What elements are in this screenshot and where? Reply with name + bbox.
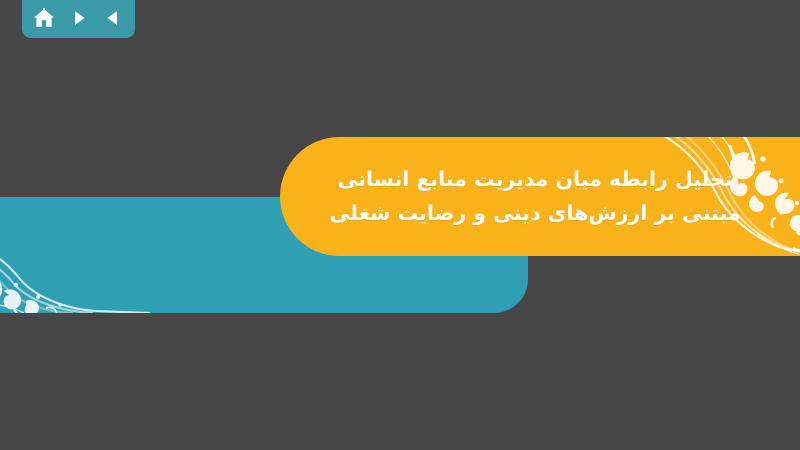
title-line-2: مبتنی بر ارزش‌های دینی و رضایت شغلی — [306, 197, 764, 230]
next-arrow-icon — [69, 8, 89, 28]
title-band: تحلیل رابطه میان مدیریت منابع انسانی مبت… — [280, 137, 800, 256]
previous-arrow-icon — [103, 8, 123, 28]
slide-canvas: تحلیل رابطه میان مدیریت منابع انسانی مبت… — [0, 0, 800, 450]
slide-title: تحلیل رابطه میان مدیریت منابع انسانی مبت… — [280, 163, 800, 229]
navigation-bar[interactable] — [22, 0, 135, 38]
home-button[interactable] — [31, 5, 57, 31]
title-line-1: تحلیل رابطه میان مدیریت منابع انسانی — [306, 163, 764, 196]
home-icon — [33, 8, 55, 29]
teal-arabesque-ornament — [0, 197, 150, 313]
next-button[interactable] — [66, 5, 92, 31]
previous-button[interactable] — [100, 5, 126, 31]
